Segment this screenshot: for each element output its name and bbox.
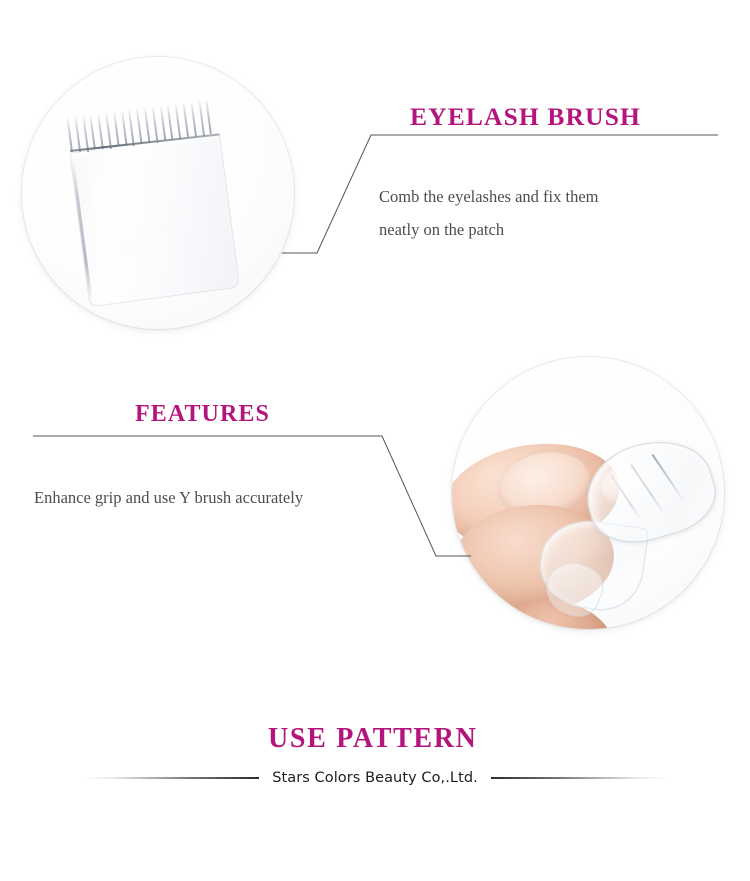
comb-tooth xyxy=(183,103,189,137)
comb-tooth xyxy=(90,115,96,149)
section-title-eyelash-brush: EYELASH BRUSH xyxy=(410,102,641,132)
section-title-features: FEATURES xyxy=(135,401,270,428)
comb-tooth xyxy=(152,107,159,143)
comb-plate xyxy=(69,133,240,308)
comb-tooth xyxy=(113,112,119,146)
body-line: Comb the eyelashes and fix them xyxy=(379,180,599,213)
comb-tooth xyxy=(144,108,151,143)
company-name: Stars Colors Beauty Co,.Ltd. xyxy=(259,770,491,786)
comb-tooth xyxy=(128,110,135,146)
body-line: neatly on the patch xyxy=(379,213,599,246)
product-detail-page: EYELASH BRUSH Comb the eyelashes and fix… xyxy=(0,0,750,881)
y-brush-icon xyxy=(540,443,714,619)
comb-icon xyxy=(65,99,240,307)
footer-title-use-pattern: USE PATTERN xyxy=(268,723,478,755)
section-body-features: Enhance grip and use Y brush accurately xyxy=(34,481,303,514)
comb-tooth xyxy=(167,105,174,140)
divider-line-right xyxy=(491,777,669,778)
comb-tooth xyxy=(206,100,212,134)
comb-tooth xyxy=(98,114,105,149)
comb-tooth xyxy=(105,113,112,149)
y-brush-in-hand-photo xyxy=(452,357,724,629)
y-brush-slit xyxy=(652,454,685,502)
comb-tooth xyxy=(175,104,182,140)
eyelash-comb-photo xyxy=(22,57,294,329)
comb-tooth xyxy=(121,111,128,146)
comb-tooth xyxy=(198,101,205,137)
comb-tooth xyxy=(136,109,142,143)
comb-tooth xyxy=(159,106,165,140)
section-body-eyelash-brush: Comb the eyelashes and fix them neatly o… xyxy=(379,180,599,246)
footer-divider: Stars Colors Beauty Co,.Ltd. xyxy=(0,766,750,790)
y-brush-slit xyxy=(631,464,665,513)
body-line: Enhance grip and use Y brush accurately xyxy=(34,481,303,514)
comb-tooth xyxy=(67,118,73,152)
comb-tooth xyxy=(190,102,197,137)
y-brush-slit xyxy=(611,475,642,519)
divider-line-left xyxy=(81,777,259,778)
comb-tooth xyxy=(74,117,81,152)
